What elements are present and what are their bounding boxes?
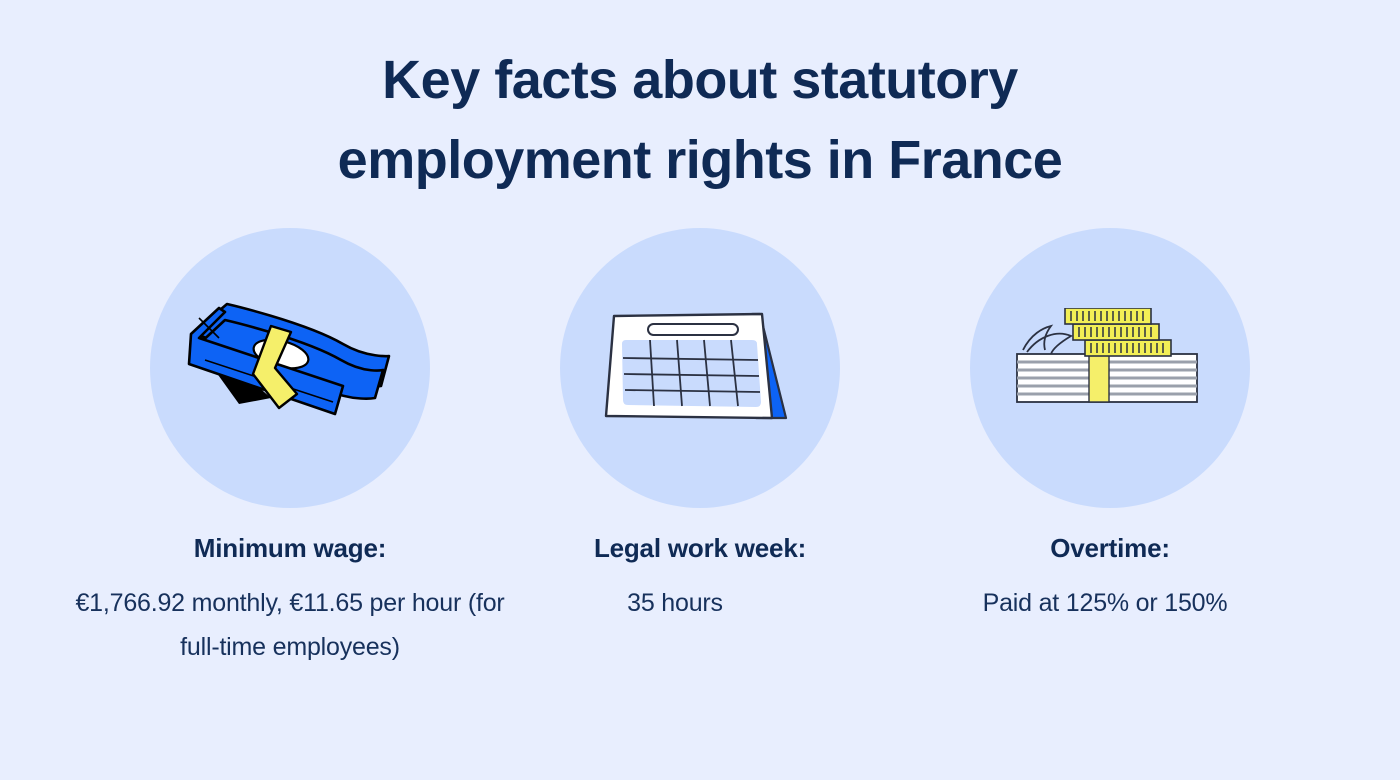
cash-bundle-icon [175,298,405,438]
fact-column-overtime: Overtime: Paid at 125% or 150% [905,228,1315,625]
fact-heading: Minimum wage: [85,531,495,565]
desk-calendar-icon [600,308,800,428]
page-title: Key facts about statutory employment rig… [260,40,1140,200]
fact-caption-overtime: Overtime: Paid at 125% or 150% [905,531,1315,625]
page-title-line-1: Key facts about statutory [260,40,1140,120]
fact-column-minimum-wage: Minimum wage: €1,766.92 monthly, €11.65 … [85,228,495,669]
page-title-line-2: employment rights in France [260,120,1140,200]
icon-circle-overtime [970,228,1250,508]
fact-value: 35 hours [495,581,855,625]
facts-row: Minimum wage: €1,766.92 monthly, €11.65 … [0,228,1400,669]
fact-column-legal-work-week: Legal work week: 35 hours [495,228,905,625]
coins-on-cash-icon [1005,308,1215,428]
infographic-root: Key facts about statutory employment rig… [0,0,1400,780]
fact-value: €1,766.92 monthly, €11.65 per hour (for … [60,581,520,669]
fact-value: Paid at 125% or 150% [905,581,1305,625]
fact-caption-legal-work-week: Legal work week: 35 hours [495,531,905,625]
fact-heading: Overtime: [905,531,1315,565]
icon-circle-legal-work-week [560,228,840,508]
icon-circle-minimum-wage [150,228,430,508]
fact-caption-minimum-wage: Minimum wage: €1,766.92 monthly, €11.65 … [85,531,495,669]
fact-heading: Legal work week: [495,531,905,565]
